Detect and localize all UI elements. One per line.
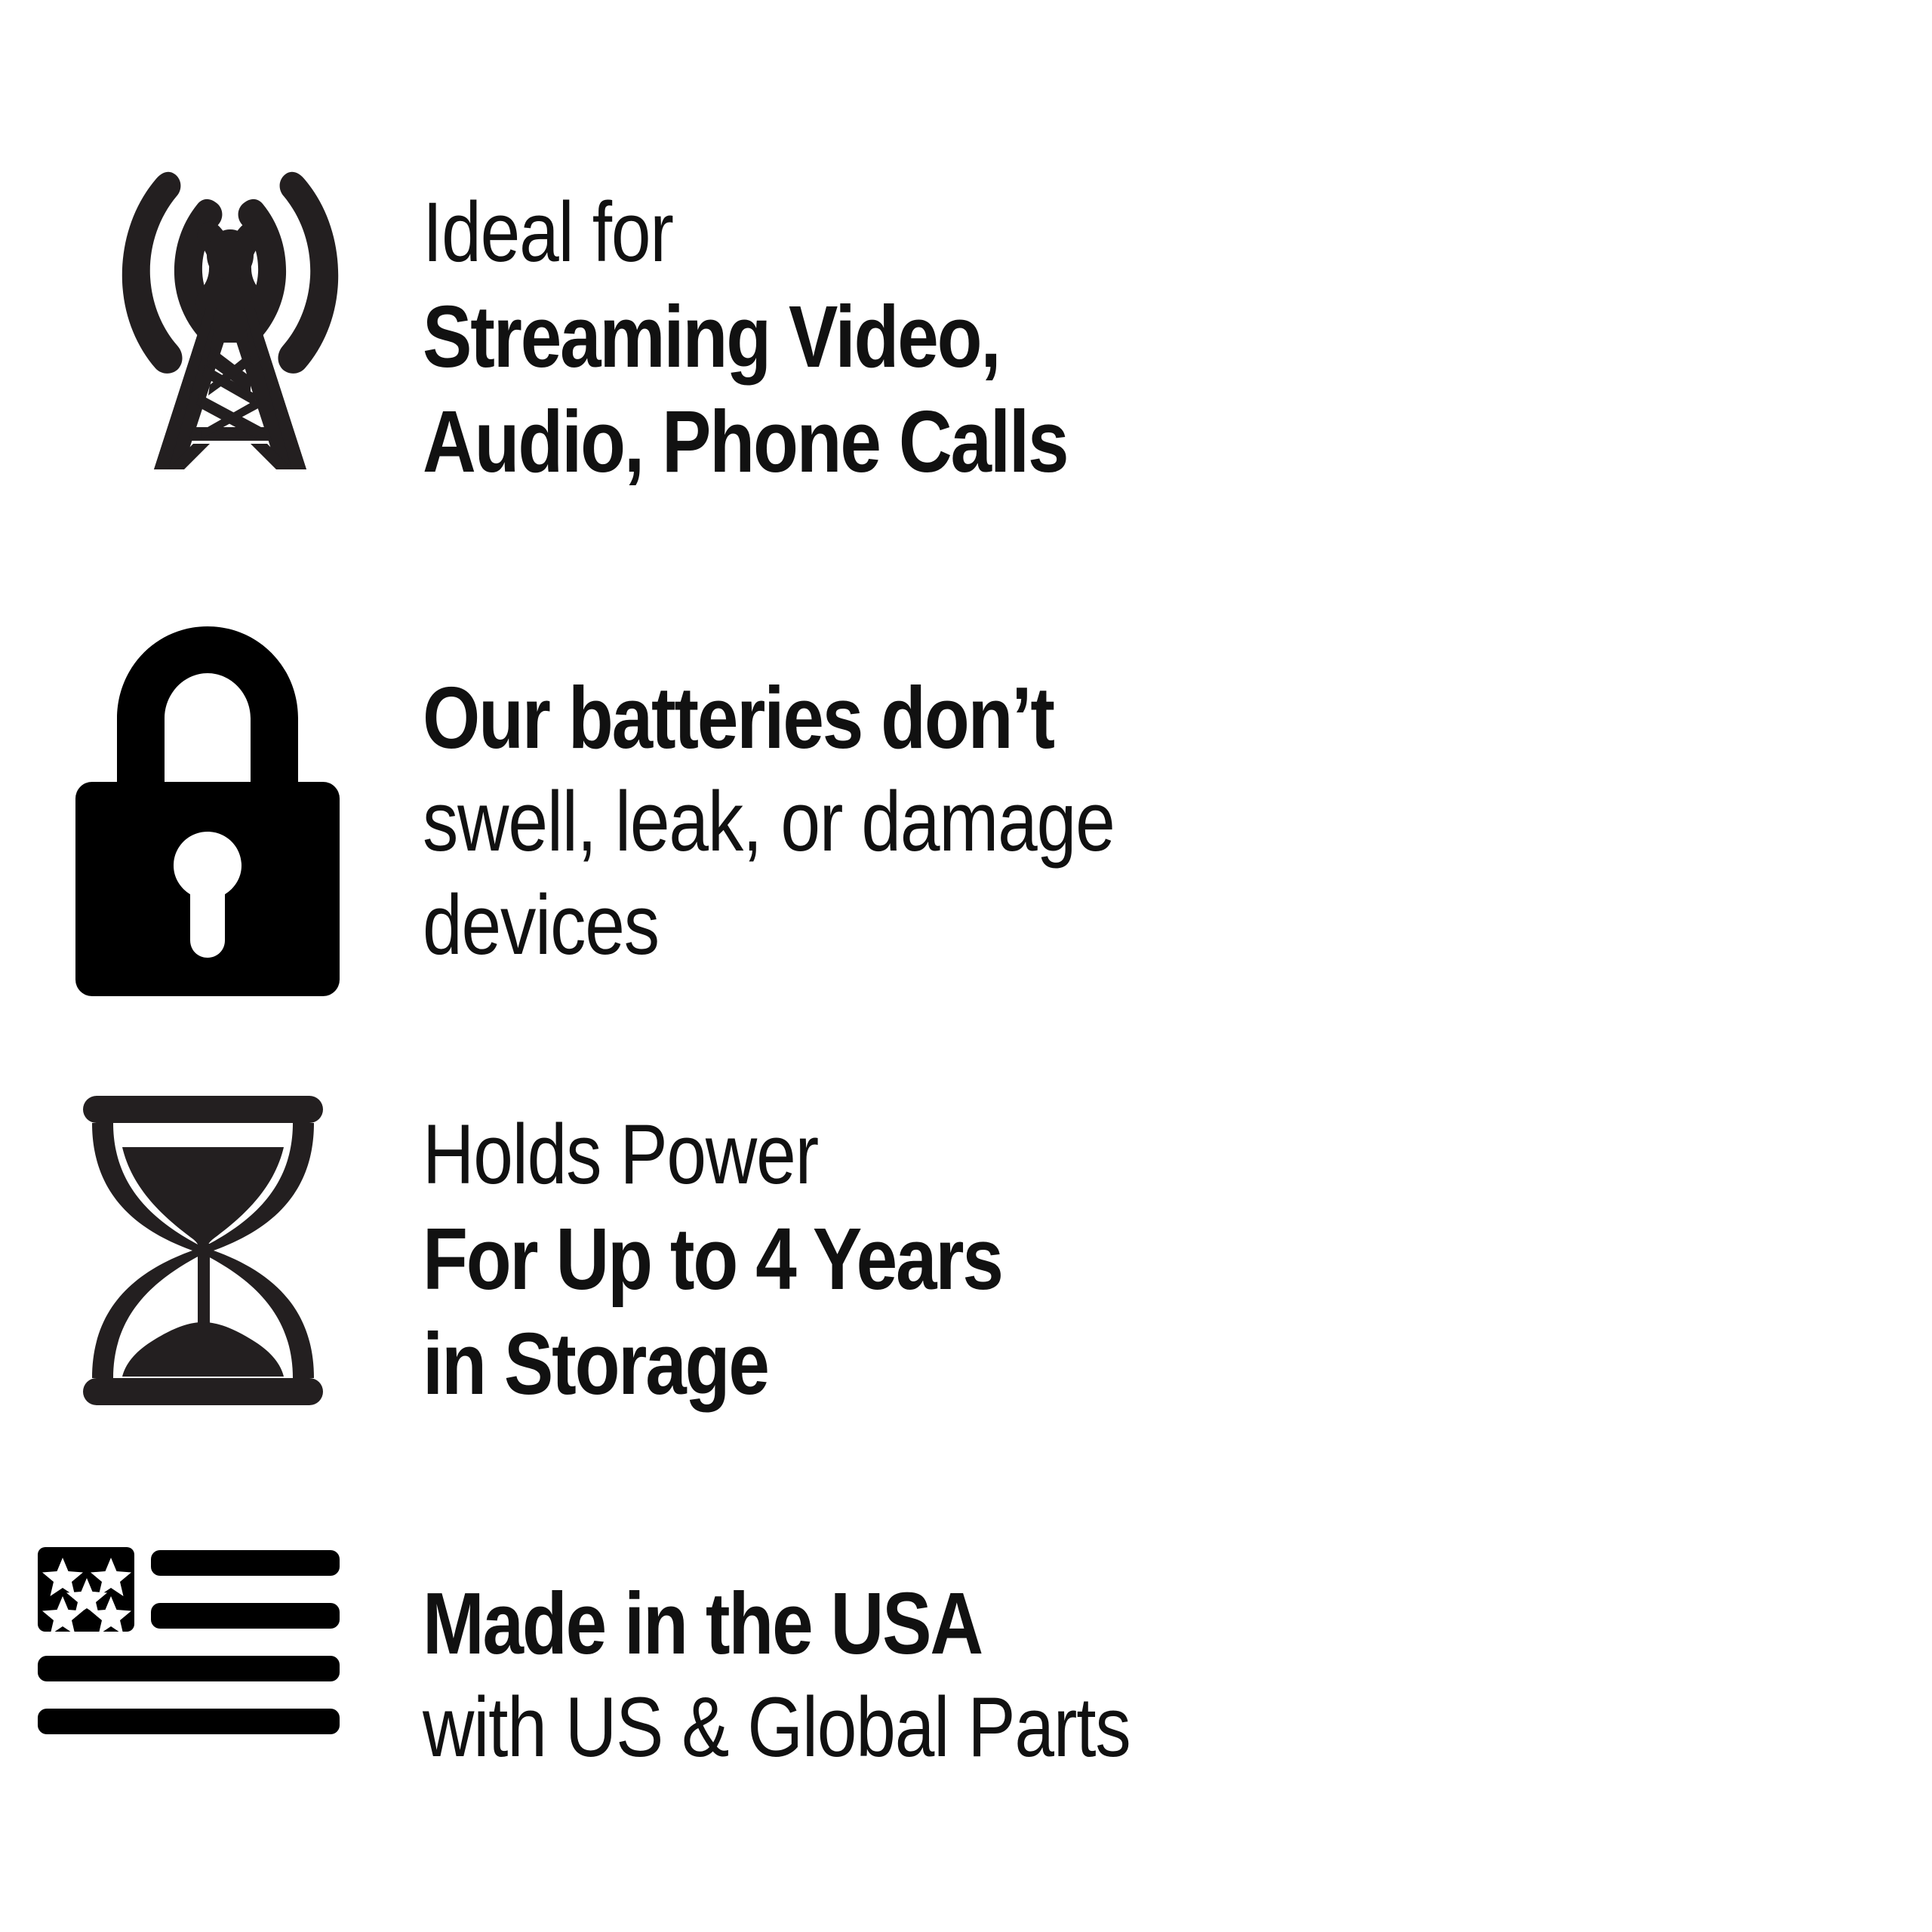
feature-line: with US & Global Parts [423, 1676, 1698, 1780]
feature-row-storage: Holds Power For Up to 4 Years in Storage [0, 1081, 1932, 1417]
icon-cell-storage [0, 1081, 423, 1405]
feature-line: For Up to 4 Years [423, 1207, 1698, 1312]
hourglass-icon [83, 1096, 340, 1405]
feature-line: Streaming Video, [423, 285, 1698, 389]
feature-row-streaming: Ideal for Streaming Video, Audio, Phone … [0, 168, 1932, 494]
feature-line: Our batteries don’t [423, 666, 1698, 771]
usa-flag-icon [38, 1547, 340, 1751]
text-cell-batteries: Our batteries don’t swell, leak, or dama… [423, 619, 1932, 977]
broadcast-tower-icon [121, 168, 340, 469]
icon-cell-batteries [0, 619, 423, 996]
feature-line: devices [423, 874, 1698, 977]
text-cell-streaming: Ideal for Streaming Video, Audio, Phone … [423, 168, 1932, 494]
feature-line: Made in the USA [423, 1571, 1698, 1676]
icon-cell-streaming [0, 168, 423, 469]
padlock-icon [75, 626, 340, 996]
feature-line: in Storage [423, 1312, 1698, 1417]
feature-list: Ideal for Streaming Video, Audio, Phone … [0, 0, 1932, 1932]
feature-line: swell, leak, or damage [423, 771, 1698, 874]
feature-line: Audio, Phone Calls [423, 389, 1698, 494]
text-cell-storage: Holds Power For Up to 4 Years in Storage [423, 1081, 1932, 1417]
icon-cell-made-usa [0, 1541, 423, 1751]
feature-row-made-usa: Made in the USA with US & Global Parts [0, 1541, 1932, 1780]
feature-line: Holds Power [423, 1103, 1698, 1207]
feature-row-batteries: Our batteries don’t swell, leak, or dama… [0, 619, 1932, 996]
text-cell-made-usa: Made in the USA with US & Global Parts [423, 1541, 1932, 1780]
feature-line: Ideal for [423, 181, 1698, 285]
